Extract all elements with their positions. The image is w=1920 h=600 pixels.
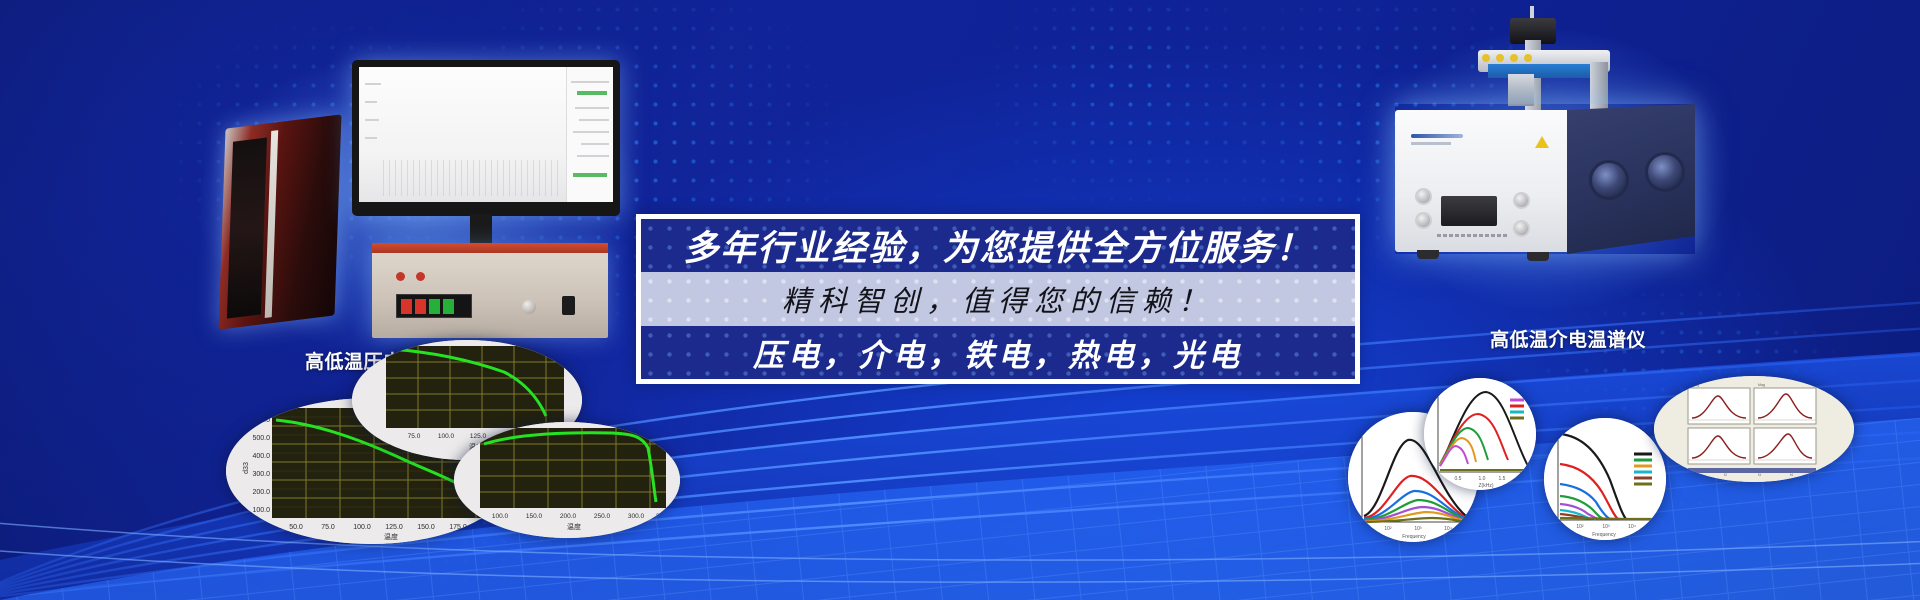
chassis-side-panel — [1567, 104, 1695, 254]
svg-text:250.0: 250.0 — [594, 513, 611, 520]
chassis-display — [1441, 196, 1497, 226]
svg-text:1.5: 1.5 — [1499, 476, 1506, 482]
slogan-line-3-text: 压电，介电，铁电，热电，光电 — [753, 330, 1243, 375]
svg-text:温度: 温度 — [384, 532, 398, 541]
slogan-box: 多年行业经验，为您提供全方位服务！ 精科智创，值得您的信赖！ 压电，介电，铁电，… — [636, 214, 1360, 384]
svg-text:100.0: 100.0 — [492, 513, 509, 520]
monitor-screen — [359, 67, 613, 202]
chart-thumb-dielectric-decay: 10²10³10⁴ Frequency — [1544, 418, 1666, 540]
svg-text:200.0: 200.0 — [252, 489, 270, 496]
promo-banner: 高低温压电D33测试系统 600.0500.0 400.0300.0 200.0… — [0, 0, 1920, 600]
svg-text:150.0: 150.0 — [526, 513, 543, 520]
svg-text:200.0: 200.0 — [560, 513, 577, 520]
svg-text:10²: 10² — [1384, 526, 1392, 532]
svg-text:100.0: 100.0 — [252, 507, 270, 514]
slogan-line-3-row: 压电，介电，铁电，热电，光电 — [641, 326, 1355, 379]
svg-text:Frequency: Frequency — [1592, 532, 1616, 538]
svg-text:125.0: 125.0 — [470, 433, 487, 440]
controller-display — [396, 294, 472, 318]
fan-grill-right — [1645, 152, 1685, 192]
svg-text:Frequency: Frequency — [1402, 534, 1426, 540]
slogan-line-1-row: 多年行业经验，为您提供全方位服务！ — [641, 219, 1355, 272]
svg-text:0.5: 0.5 — [1455, 476, 1462, 482]
chart-thumb-resonance-grid: MagMag f1f2 f3f4 — [1654, 376, 1854, 482]
chart-thumb-dielectric-2: 0.51.0 1.52.0 Z(kHz) — [1424, 378, 1536, 490]
slogan-line-1-text: 多年行业经验，为您提供全方位服务！ — [683, 220, 1312, 271]
laser-indicator-lights — [1482, 54, 1532, 62]
svg-text:d33: d33 — [243, 462, 250, 474]
laser-lens-stack — [1508, 74, 1534, 106]
screen-sidebar — [566, 67, 613, 202]
svg-text:Z(kHz): Z(kHz) — [1479, 483, 1494, 489]
chassis-logo — [1411, 134, 1463, 138]
svg-text:f2: f2 — [1724, 473, 1727, 477]
svg-text:10³: 10³ — [1414, 526, 1422, 532]
svg-text:10³: 10³ — [1602, 524, 1610, 530]
fan-grill-left — [1589, 160, 1629, 200]
right-product-label: 高低温介电温谱仪 — [1490, 325, 1646, 352]
svg-text:f3: f3 — [1758, 473, 1761, 477]
svg-text:100.0: 100.0 — [438, 433, 455, 440]
instrument-chassis-image — [1395, 104, 1695, 254]
chart-thumb-d33-3: 100.0150.0 200.0250.0 300.0350.0 温度 — [454, 422, 680, 538]
svg-text:300.0: 300.0 — [252, 471, 270, 478]
svg-text:Mag: Mag — [1758, 383, 1765, 387]
svg-text:125.0: 125.0 — [385, 524, 403, 531]
laser-arm-blue — [1488, 64, 1598, 78]
slogan-line-2-text: 精科智创，值得您的信赖！ — [782, 278, 1214, 320]
svg-text:100.0: 100.0 — [353, 524, 371, 531]
svg-text:温度: 温度 — [567, 522, 581, 531]
svg-text:500.0: 500.0 — [252, 435, 270, 442]
chassis-brand-text — [1411, 142, 1451, 145]
monitor-image — [352, 60, 620, 216]
warning-triangle-icon — [1535, 136, 1549, 148]
pc-tower-image — [219, 114, 342, 329]
screen-plot — [383, 160, 563, 196]
svg-text:75.0: 75.0 — [408, 433, 421, 440]
svg-text:50.0: 50.0 — [289, 524, 303, 531]
svg-text:10⁴: 10⁴ — [1628, 524, 1636, 530]
svg-text:300.0: 300.0 — [628, 513, 645, 520]
svg-text:400.0: 400.0 — [252, 453, 270, 460]
controller-box-image — [372, 248, 608, 338]
slogan-line-2-row: 精科智创，值得您的信赖！ — [641, 272, 1355, 325]
chassis-front-panel — [1395, 110, 1567, 252]
svg-text:75.0: 75.0 — [321, 524, 335, 531]
chassis-model-text — [1437, 234, 1509, 237]
svg-text:150.0: 150.0 — [417, 524, 435, 531]
svg-text:1.0: 1.0 — [1479, 476, 1486, 482]
svg-text:f4: f4 — [1790, 473, 1793, 477]
svg-text:10²: 10² — [1576, 524, 1584, 530]
